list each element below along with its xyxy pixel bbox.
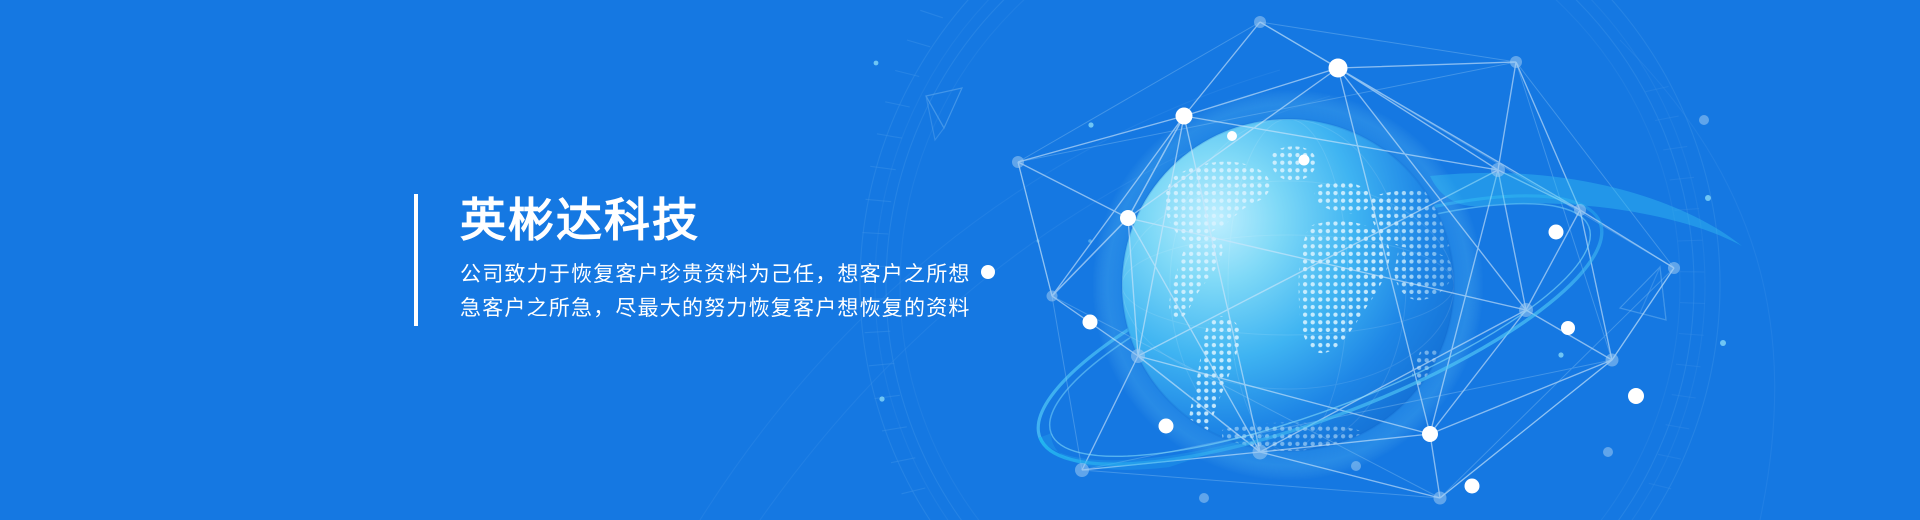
orbit-ring-front: [1040, 173, 1742, 518]
background-specks: [874, 61, 1726, 402]
wireframe-triangles: [926, 88, 1667, 320]
globe-sphere: [1122, 119, 1513, 454]
hero-copy: 英彬达科技 公司致力于恢复客户珍贵资料为己任，想客户之所想 急客户之所急，尽最大…: [414, 194, 971, 326]
network-nodes: [981, 16, 1709, 505]
accent-bar: [414, 194, 418, 326]
hero-banner: 英彬达科技 公司致力于恢复客户珍贵资料为己任，想客户之所想 急客户之所急，尽最大…: [0, 0, 1920, 520]
orbit-ring-back: [1009, 142, 1600, 437]
globe-network-illustration: [960, 0, 1920, 520]
tagline-line-1: 公司致力于恢复客户珍贵资料为己任，想客户之所想: [460, 258, 971, 292]
dial-arc-right: [875, 0, 1705, 520]
brand-title: 英彬达科技: [460, 196, 971, 246]
copy-column: 英彬达科技 公司致力于恢复客户珍贵资料为己任，想客户之所想 急客户之所急，尽最大…: [460, 194, 971, 326]
network-wireframe: [1018, 22, 1674, 498]
dial-arc-left: [860, 0, 1720, 520]
tagline-line-2: 急客户之所急，尽最大的努力恢复客户想恢复的资料: [460, 292, 971, 326]
tagline: 公司致力于恢复客户珍贵资料为己任，想客户之所想 急客户之所急，尽最大的努力恢复客…: [460, 258, 971, 326]
